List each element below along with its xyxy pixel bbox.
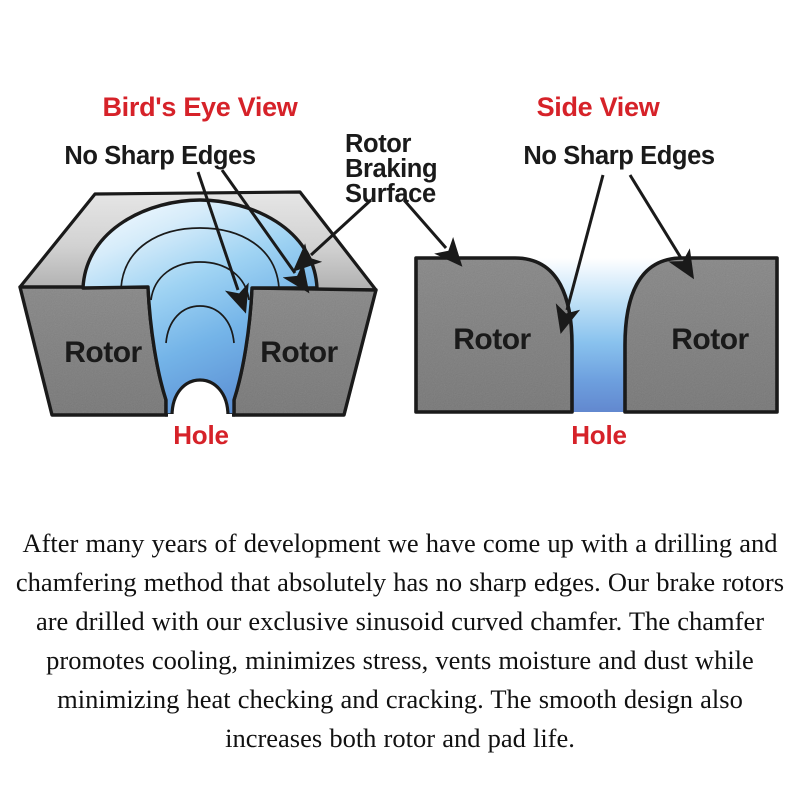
hole-label-birds-eye: Hole	[173, 420, 229, 450]
rotor-label-right-birds-eye: Rotor	[260, 336, 338, 369]
side-view-title: Side View	[537, 92, 661, 122]
callout-no-sharp-edges-left: No Sharp Edges	[64, 142, 256, 170]
description-paragraph: After many years of development we have …	[0, 524, 800, 758]
hole-label-side-view: Hole	[571, 420, 627, 450]
diagram-page: Bird's Eye View No Sharp Edges Rotor Bra…	[0, 0, 800, 800]
callout-rotor-braking-surface-line2: Braking	[345, 155, 437, 183]
birds-eye-view-group	[20, 170, 376, 422]
callout-rotor-braking-surface-line1: Rotor	[345, 130, 411, 158]
callout-no-sharp-edges-right: No Sharp Edges	[523, 142, 715, 170]
rotor-label-right-side-view: Rotor	[671, 323, 749, 356]
rotor-label-left-birds-eye: Rotor	[64, 336, 142, 369]
rotor-label-left-side-view: Rotor	[453, 323, 531, 356]
birds-eye-view-title: Bird's Eye View	[102, 92, 298, 122]
side-view-group	[404, 175, 777, 412]
arrow-no-sharp-edges-right-b	[630, 175, 681, 258]
callout-rotor-braking-surface-line3: Surface	[345, 180, 436, 208]
